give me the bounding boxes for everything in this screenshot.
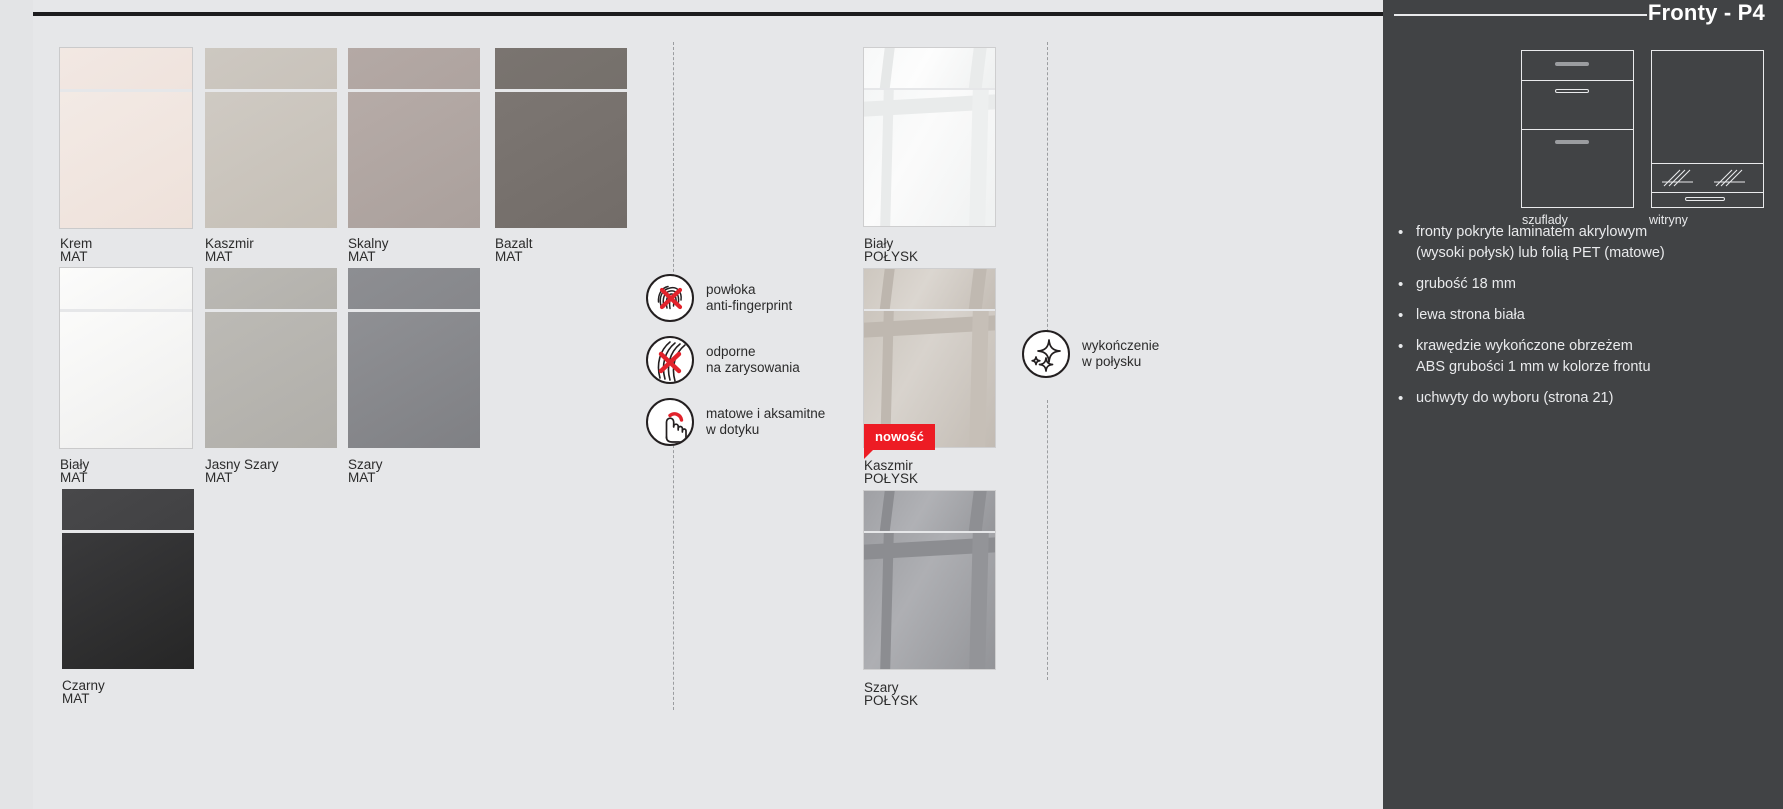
gloss-finish-szary: POŁYSK	[864, 693, 918, 710]
scratch-resistant-icon	[646, 336, 694, 384]
feature-label: powłoka anti-fingerprint	[706, 282, 792, 315]
dashed-divider-right-bottom	[1047, 400, 1048, 680]
swatch-finish-czarny: MAT	[62, 691, 90, 708]
door-sample	[348, 48, 480, 228]
swatch-jasny-szary-mat[interactable]	[205, 268, 337, 448]
door-sample	[62, 489, 194, 669]
feature-scratch-resistant[interactable]: odporne na zarysowania	[646, 336, 800, 384]
bullet-text: uchwyty do wyboru (strona 21)	[1416, 388, 1613, 409]
door-bottom-panel	[495, 92, 627, 228]
badge-nowosc: nowość	[864, 424, 935, 450]
spec-bullet-list: • fronty pokryte laminatem akrylowym (wy…	[1398, 222, 1766, 419]
handle-icon	[1555, 62, 1589, 66]
matte-touch-icon	[646, 398, 694, 446]
bullet-text: krawędzie wykończone obrzeżem ABS gruboś…	[1416, 336, 1651, 378]
swatch-kaszmir-polysk[interactable]	[864, 269, 995, 447]
list-item: • uchwyty do wyboru (strona 21)	[1398, 388, 1766, 409]
swatch-finish-szary: MAT	[348, 470, 376, 487]
door-top-panel	[864, 48, 995, 88]
door-sample	[348, 268, 480, 448]
list-item: • lewa strona biała	[1398, 305, 1766, 326]
handle-icon	[1685, 197, 1725, 201]
door-bottom-panel	[348, 312, 480, 448]
door-top-panel	[62, 489, 194, 530]
door-top-panel	[495, 48, 627, 89]
bullet-text: grubość 18 mm	[1416, 274, 1516, 295]
drawer-divider-1	[1522, 80, 1633, 81]
drawer-divider-2	[1522, 129, 1633, 130]
cabinet-divider-2	[1652, 192, 1763, 193]
bullet-marker: •	[1398, 388, 1405, 409]
list-item: • fronty pokryte laminatem akrylowym (wy…	[1398, 222, 1766, 264]
bullet-text: fronty pokryte laminatem akrylowym (wyso…	[1416, 222, 1665, 264]
door-sample	[205, 48, 337, 228]
swatch-bialy-polysk[interactable]	[864, 48, 995, 226]
list-item: • grubość 18 mm	[1398, 274, 1766, 295]
handle-icon	[1555, 140, 1589, 144]
door-top-panel	[205, 48, 337, 89]
door-bottom-panel	[348, 92, 480, 228]
swatch-finish-bazalt: MAT	[495, 249, 523, 266]
swatch-finish-skalny: MAT	[348, 249, 376, 266]
swatch-szary-polysk[interactable]	[864, 491, 995, 669]
gloss-finish-kaszmir: POŁYSK	[864, 471, 918, 488]
bullet-marker: •	[1398, 222, 1405, 264]
feature-matte-touch[interactable]: matowe i aksamitne w dotyku	[646, 398, 825, 446]
swatch-kaszmir-mat[interactable]	[205, 48, 337, 228]
dashed-divider-left-bottom	[673, 440, 674, 710]
swatch-szary-mat[interactable]	[348, 268, 480, 448]
bullet-text: lewa strona biała	[1416, 305, 1525, 326]
feature-anti-fingerprint[interactable]: powłoka anti-fingerprint	[646, 274, 792, 322]
glass-shine-icon	[1660, 167, 1700, 189]
door-top-panel	[348, 268, 480, 309]
swatch-bialy-mat[interactable]	[60, 268, 192, 448]
panel-rule	[1394, 14, 1647, 16]
swatch-czarny-mat[interactable]	[62, 489, 194, 669]
swatch-finish-kaszmir: MAT	[205, 249, 233, 266]
bullet-marker: •	[1398, 305, 1405, 326]
door-bottom-panel	[205, 312, 337, 448]
bullet-marker: •	[1398, 336, 1405, 378]
page-title: Fronty - P4	[1648, 0, 1765, 26]
swatch-finish-jasny-szary: MAT	[205, 470, 233, 487]
sparkle-icon	[1022, 330, 1070, 378]
door-bottom-panel	[864, 533, 995, 669]
dashed-divider-left-top	[673, 42, 674, 282]
anti-fingerprint-icon	[646, 274, 694, 322]
dashed-divider-right-top	[1047, 42, 1048, 342]
info-panel: Fronty - P4 szuflady	[1383, 0, 1783, 809]
door-top-panel	[864, 491, 995, 531]
drawer-cabinet-outline	[1521, 50, 1634, 208]
door-sample	[60, 48, 192, 228]
door-sample	[205, 268, 337, 448]
swatch-finish-bialy: MAT	[60, 470, 88, 487]
swatch-skalny-mat[interactable]	[348, 48, 480, 228]
door-bottom-panel	[864, 90, 995, 226]
feature-label: wykończenie w połysku	[1082, 338, 1159, 371]
door-sample	[495, 48, 627, 228]
door-top-panel	[60, 48, 192, 89]
door-top-panel	[348, 48, 480, 89]
catalog-page: Krem MAT Kaszmir MAT Skalny MAT Bazalt M…	[0, 0, 1783, 809]
list-item: • krawędzie wykończone obrzeżem ABS grub…	[1398, 336, 1766, 378]
feature-label: matowe i aksamitne w dotyku	[706, 406, 825, 439]
door-bottom-panel	[62, 533, 194, 669]
feature-label: odporne na zarysowania	[706, 344, 800, 377]
bullet-marker: •	[1398, 274, 1405, 295]
swatch-krem-mat[interactable]	[60, 48, 192, 228]
cabinet-divider-1	[1652, 163, 1763, 164]
door-top-panel	[205, 268, 337, 309]
door-bottom-panel	[205, 92, 337, 228]
door-bottom-panel	[60, 312, 192, 448]
door-bottom-panel	[60, 92, 192, 228]
swatch-bazalt-mat[interactable]	[495, 48, 627, 228]
handle-icon	[1555, 89, 1589, 93]
glass-shine-icon	[1712, 167, 1752, 189]
gloss-finish-bialy: POŁYSK	[864, 249, 918, 266]
matte-swatch-grid: Krem MAT Kaszmir MAT Skalny MAT Bazalt M…	[0, 0, 660, 809]
door-top-panel	[864, 269, 995, 309]
display-cabinet-outline	[1651, 50, 1764, 208]
feature-gloss-finish[interactable]: wykończenie w połysku	[1022, 330, 1159, 378]
door-top-panel	[60, 268, 192, 309]
swatch-finish-krem: MAT	[60, 249, 88, 266]
door-sample	[60, 268, 192, 448]
